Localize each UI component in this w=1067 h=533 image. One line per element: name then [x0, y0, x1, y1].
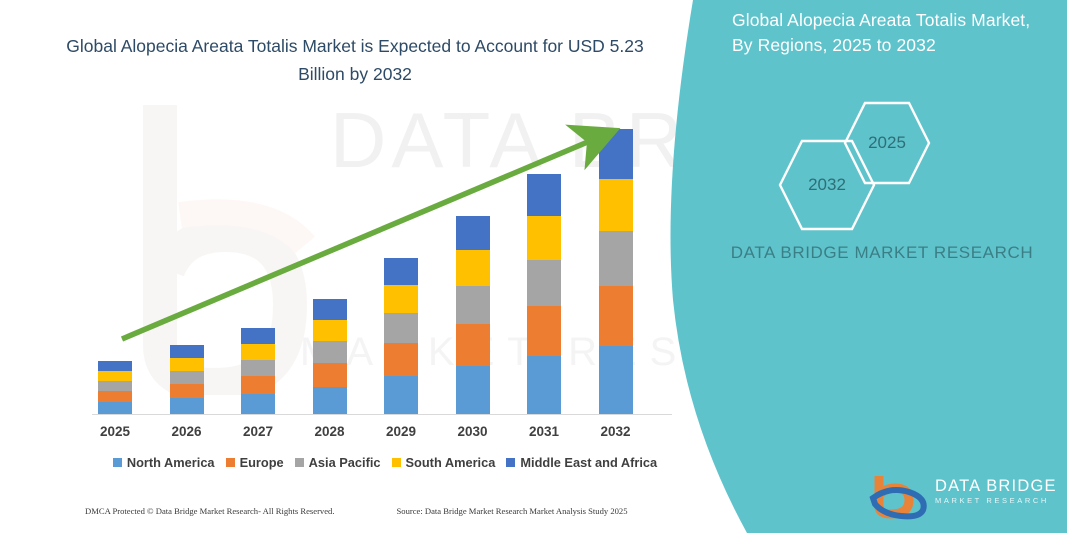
segment-middle-east-and-africa: [456, 216, 490, 250]
bar-2026: [170, 345, 204, 414]
legend-label: South America: [406, 455, 496, 470]
bar-2025: [98, 361, 132, 414]
segment-south-america: [98, 371, 132, 381]
bar-2030: [456, 216, 490, 414]
segment-north-america: [384, 376, 418, 414]
bar-2029: [384, 258, 418, 414]
segment-asia-pacific: [170, 371, 204, 384]
legend-item-asia-pacific[interactable]: Asia Pacific: [295, 455, 381, 470]
segment-europe: [313, 363, 347, 387]
right-panel: Global Alopecia Areata Totalis Market, B…: [647, 0, 1067, 533]
segment-middle-east-and-africa: [599, 129, 633, 179]
segment-middle-east-and-africa: [241, 328, 275, 344]
legend-swatch-icon: [506, 458, 515, 467]
segment-europe: [98, 391, 132, 402]
segment-middle-east-and-africa: [170, 345, 204, 358]
segment-middle-east-and-africa: [98, 361, 132, 371]
bar-2028: [313, 299, 347, 414]
x-axis-label-2025: 2025: [80, 424, 150, 439]
segment-north-america: [241, 394, 275, 414]
panel-curved-background: [647, 0, 1067, 533]
segment-europe: [599, 286, 633, 346]
panel-title: Global Alopecia Areata Totalis Market, B…: [732, 8, 1042, 58]
segment-north-america: [98, 402, 132, 414]
segment-south-america: [599, 179, 633, 231]
panel-brand-text: DATA BRIDGE MARKET RESEARCH: [717, 240, 1047, 266]
x-axis-label-2032: 2032: [581, 424, 651, 439]
legend-swatch-icon: [295, 458, 304, 467]
brand-logo-line1: DATA BRIDGE: [935, 477, 1057, 495]
footer: DMCA Protected © Data Bridge Market Rese…: [85, 506, 685, 516]
x-axis-label-2030: 2030: [438, 424, 508, 439]
brand-logo-line2: MARKET RESEARCH: [935, 495, 1057, 507]
segment-asia-pacific: [241, 360, 275, 376]
chart-legend: North AmericaEuropeAsia PacificSouth Ame…: [95, 455, 675, 470]
legend-label: Europe: [240, 455, 284, 470]
legend-label: North America: [127, 455, 215, 470]
segment-south-america: [241, 344, 275, 360]
legend-label: Middle East and Africa: [520, 455, 657, 470]
bar-2032: [599, 129, 633, 414]
segment-asia-pacific: [384, 313, 418, 343]
segment-middle-east-and-africa: [527, 174, 561, 216]
x-axis-label-2027: 2027: [223, 424, 293, 439]
segment-south-america: [527, 216, 561, 260]
segment-asia-pacific: [313, 341, 347, 363]
brand-logo-text: DATA BRIDGE MARKET RESEARCH: [935, 477, 1057, 507]
legend-swatch-icon: [226, 458, 235, 467]
segment-south-america: [313, 320, 347, 341]
segment-north-america: [456, 366, 490, 414]
legend-item-middle-east-and-africa[interactable]: Middle East and Africa: [506, 455, 657, 470]
legend-label: Asia Pacific: [309, 455, 381, 470]
segment-europe: [456, 324, 490, 366]
legend-swatch-icon: [113, 458, 122, 467]
segment-south-america: [384, 285, 418, 313]
segment-middle-east-and-africa: [313, 299, 347, 320]
x-axis-label-2029: 2029: [366, 424, 436, 439]
x-axis-label-2026: 2026: [152, 424, 222, 439]
segment-south-america: [456, 250, 490, 286]
chart-plot-area: [0, 0, 700, 480]
infographic-canvas: DATA BRIDGE MARKET RESEARCH Global Alope…: [0, 0, 1067, 533]
segment-europe: [527, 306, 561, 356]
segment-europe: [384, 343, 418, 376]
footer-source: Source: Data Bridge Market Research Mark…: [397, 506, 628, 516]
x-axis-line: [92, 414, 672, 415]
segment-europe: [241, 376, 275, 394]
hexagon-2025: 2025: [842, 100, 932, 186]
footer-copyright: DMCA Protected © Data Bridge Market Rese…: [85, 506, 335, 516]
legend-item-europe[interactable]: Europe: [226, 455, 284, 470]
segment-north-america: [313, 387, 347, 414]
legend-item-south-america[interactable]: South America: [392, 455, 496, 470]
segment-asia-pacific: [599, 231, 633, 286]
x-axis-label-2031: 2031: [509, 424, 579, 439]
segment-asia-pacific: [98, 381, 132, 391]
legend-item-north-america[interactable]: North America: [113, 455, 215, 470]
segment-north-america: [527, 356, 561, 414]
x-axis-label-2028: 2028: [295, 424, 365, 439]
segment-europe: [170, 384, 204, 398]
segment-north-america: [170, 398, 204, 414]
bar-2027: [241, 328, 275, 414]
segment-north-america: [599, 346, 633, 414]
segment-asia-pacific: [456, 286, 490, 324]
legend-swatch-icon: [392, 458, 401, 467]
hexagon-2025-label: 2025: [842, 133, 932, 153]
segment-south-america: [170, 358, 204, 371]
segment-asia-pacific: [527, 260, 561, 306]
bar-2031: [527, 174, 561, 414]
segment-middle-east-and-africa: [384, 258, 418, 285]
